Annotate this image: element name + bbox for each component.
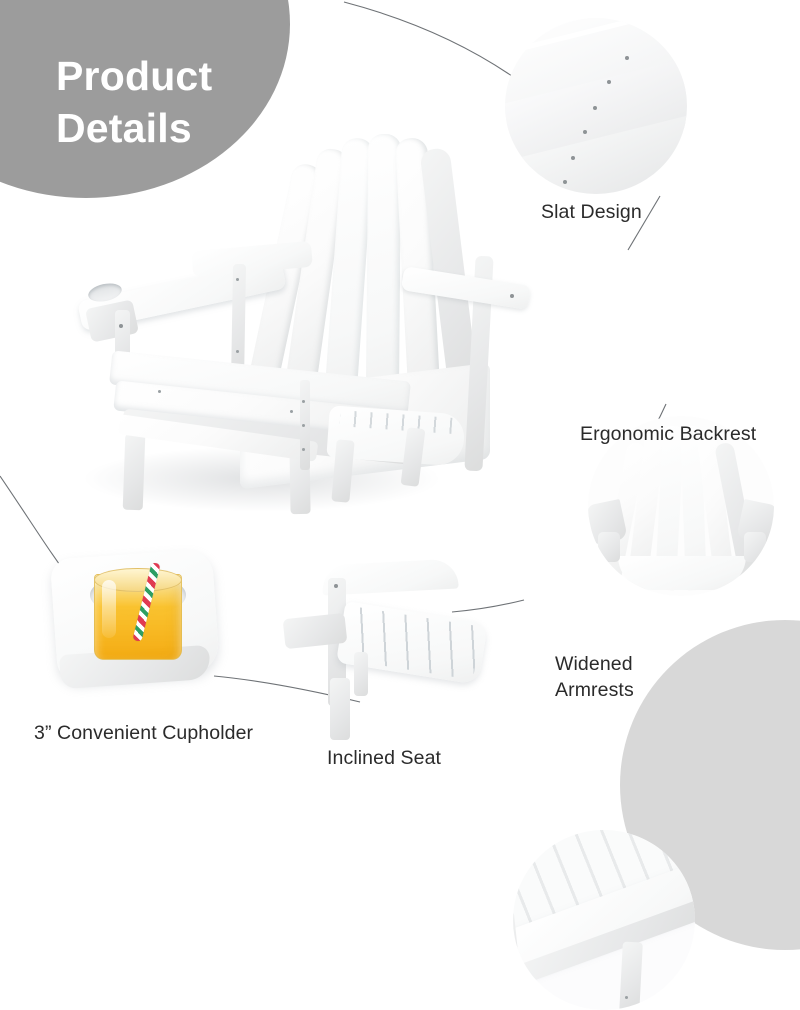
callout-label-cupholder: 3” Convenient Cupholder [34,720,253,746]
callout-image-inclined-seat [288,560,493,740]
callout-image-cupholder [42,544,232,696]
callout-label-slat-design: Slat Design [541,199,642,225]
callout-image-widened-armrests [513,830,695,1010]
callout-label-inclined-seat: Inclined Seat [327,745,441,771]
main-product-image [72,128,472,518]
page-title: Product Details [56,50,212,155]
callout-image-slat-design [505,18,687,194]
infographic-canvas: Product Details [0,0,800,800]
callout-label-ergonomic-backrest: Ergonomic Backrest [580,421,756,447]
callout-label-widened-armrests: Widened Armrests [555,651,634,703]
